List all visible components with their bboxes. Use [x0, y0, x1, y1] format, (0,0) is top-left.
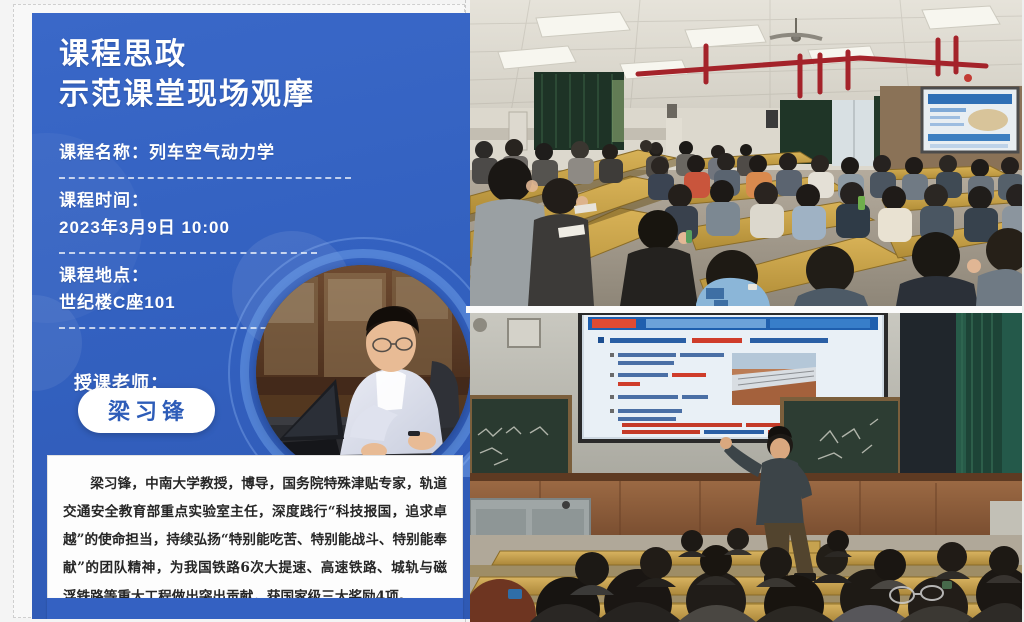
teacher-bio-card: 梁习锋，中南大学教授，博导，国务院特殊津贴专家，轨道交通安全教育部重点实验室主任…: [47, 455, 463, 619]
divider-1: [59, 177, 351, 179]
lecturer-presenting-photo: [470, 313, 1024, 622]
title-line-2: 示范课堂现场观摩: [59, 75, 439, 115]
poster-frame: 课程思政 示范课堂现场观摩 课程名称：列车空气动力学 课程时间： 2023年3月…: [13, 4, 465, 618]
info-row-course-name: 课程名称：列车空气动力学: [59, 139, 451, 174]
poster-footer-bar: [47, 598, 463, 619]
course-name-label: 课程名称：: [59, 143, 149, 162]
photo-divider-gap: [466, 306, 1024, 313]
info-row-course-time: 课程时间： 2023年3月9日 10:00: [59, 187, 451, 249]
course-poster: 课程思政 示范课堂现场观摩 课程名称：列车空气动力学 课程时间： 2023年3月…: [32, 13, 478, 619]
poster-title: 课程思政 示范课堂现场观摩: [59, 35, 439, 115]
poster-screenshot: 课程思政 示范课堂现场观摩 课程名称：列车空气动力学 课程时间： 2023年3月…: [0, 0, 1024, 622]
course-name-line: 课程名称：列车空气动力学: [59, 139, 451, 167]
title-line-1: 课程思政: [59, 35, 439, 75]
course-time-label: 课程时间：: [59, 187, 451, 215]
teacher-bio-text: 梁习锋，中南大学教授，博导，国务院特殊津贴专家，轨道交通安全教育部重点实验室主任…: [63, 470, 447, 611]
teacher-name-badge: 梁习锋: [78, 388, 215, 433]
teacher-portrait-photo: [256, 265, 470, 479]
divider-2: [59, 252, 317, 254]
poster-outer-margin: 课程思政 示范课堂现场观摩 课程名称：列车空气动力学 课程时间： 2023年3月…: [0, 0, 466, 622]
course-name-value: 列车空气动力学: [149, 143, 275, 162]
course-time-value: 2023年3月9日 10:00: [59, 214, 451, 242]
lecture-hall-audience-photo: [470, 0, 1024, 306]
